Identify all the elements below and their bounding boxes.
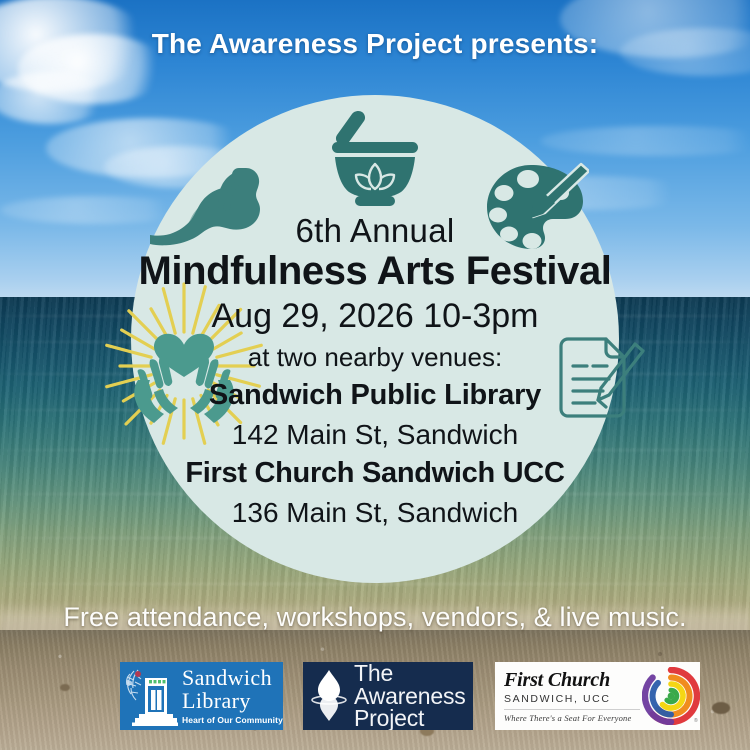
- festival-title: Mindfulness Arts Festival: [131, 249, 619, 294]
- venues-intro-label: at two nearby venues:: [131, 342, 619, 373]
- library-logo-text: Sandwich Library Heart of Our Community: [178, 667, 283, 725]
- church-logo-text: First Church SANDWICH, UCC Where There's…: [504, 670, 642, 723]
- cloud: [540, 126, 750, 156]
- library-logo-line-1: Sandwich: [182, 667, 283, 689]
- mortar-and-pestle-lotus-icon: [322, 106, 428, 206]
- venue-two-address: 136 Main St, Sandwich: [131, 497, 619, 529]
- church-logo-line-1: First Church: [504, 670, 642, 690]
- cloud: [0, 72, 110, 124]
- venue-one-name: Sandwich Public Library: [131, 379, 619, 412]
- venue-one-address: 142 Main St, Sandwich: [131, 419, 619, 451]
- edition-label: 6th Annual: [131, 212, 619, 250]
- logo-awareness-project[interactable]: The Awareness Project: [303, 662, 473, 730]
- awareness-logo-line-1: The: [354, 662, 466, 685]
- library-building-icon: [124, 666, 178, 726]
- svg-text:®: ®: [694, 717, 698, 724]
- event-poster: The Awareness Project presents:: [0, 0, 750, 750]
- event-tagline: Free attendance, workshops, vendors, & l…: [0, 602, 750, 633]
- library-logo-tagline: Heart of Our Community: [182, 716, 283, 725]
- church-logo-line-2: SANDWICH, UCC: [504, 694, 642, 705]
- awareness-logo-line-3: Project: [354, 707, 466, 730]
- logo-sandwich-library[interactable]: Sandwich Library Heart of Our Community: [120, 662, 283, 730]
- church-logo-divider: [504, 709, 640, 710]
- presents-heading: The Awareness Project presents:: [0, 28, 750, 60]
- wave: [0, 583, 750, 585]
- sponsor-logo-strip: Sandwich Library Heart of Our Community …: [0, 662, 750, 730]
- awareness-logo-text: The Awareness Project: [349, 662, 466, 730]
- library-logo-line-2: Library: [182, 690, 283, 712]
- rainbow-spiral-icon: ®: [642, 667, 700, 725]
- water-drop-reflection-icon: [309, 667, 349, 725]
- church-logo-tagline: Where There's a Seat For Everyone: [504, 714, 642, 723]
- venue-two-name: First Church Sandwich UCC: [131, 457, 619, 490]
- date-time-label: Aug 29, 2026 10-3pm: [131, 297, 619, 336]
- logo-first-church-ucc[interactable]: First Church SANDWICH, UCC Where There's…: [495, 662, 700, 730]
- awareness-logo-line-2: Awareness: [354, 685, 466, 708]
